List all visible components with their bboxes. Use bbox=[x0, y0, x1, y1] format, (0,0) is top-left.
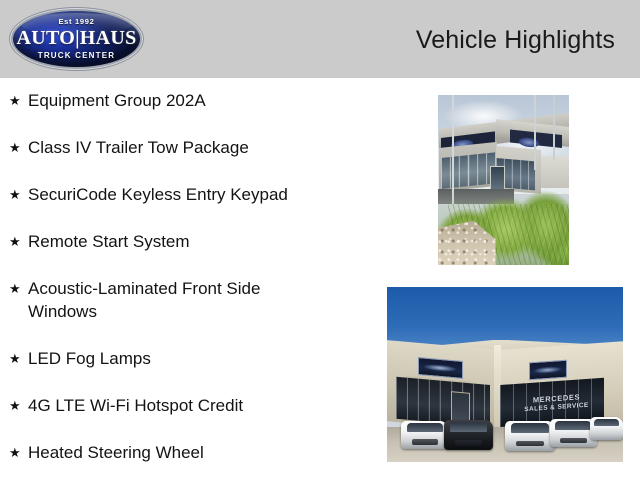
list-item-label: SecuriCode Keyless Entry Keypad bbox=[28, 180, 338, 206]
star-icon: ★ bbox=[9, 234, 21, 250]
star-icon: ★ bbox=[9, 93, 21, 109]
photo-sign-right bbox=[529, 359, 567, 379]
list-item: ★ Class IV Trailer Tow Package bbox=[0, 133, 360, 180]
list-item: ★ SecuriCode Keyless Entry Keypad bbox=[0, 180, 360, 227]
photo-flagpole bbox=[553, 95, 555, 160]
photo-car-grille bbox=[560, 438, 586, 444]
photo-background-building bbox=[538, 156, 569, 188]
photo-car bbox=[590, 417, 623, 440]
star-icon: ★ bbox=[9, 398, 21, 414]
photo-car-windshield bbox=[407, 423, 443, 433]
slide-header: Est 1992 AUTO|HAUS TRUCK CENTER Vehicle … bbox=[0, 0, 640, 78]
list-item-label: Heated Steering Wheel bbox=[28, 438, 338, 464]
photo-sign-left bbox=[418, 357, 463, 379]
page-title: Vehicle Highlights bbox=[416, 25, 615, 55]
vehicle-highlights-list: ★ Equipment Group 202A ★ Class IV Traile… bbox=[0, 86, 360, 485]
logo-est-line: Est 1992 bbox=[58, 17, 94, 26]
photo-car-windshield bbox=[511, 423, 549, 433]
photo-car-grille bbox=[516, 441, 544, 447]
logo-tagline: TRUCK CENTER bbox=[38, 51, 116, 61]
logo-text-group: Est 1992 AUTO|HAUS TRUCK CENTER bbox=[13, 11, 140, 67]
star-icon: ★ bbox=[9, 445, 21, 461]
list-item-label: 4G LTE Wi-Fi Hotspot Credit bbox=[28, 391, 338, 417]
dealership-showroom-photo bbox=[438, 95, 569, 265]
photo-car bbox=[401, 421, 448, 449]
list-item: ★ Acoustic-Laminated Front Side Windows bbox=[0, 274, 360, 344]
logo-brand-name: AUTO|HAUS bbox=[16, 27, 136, 49]
list-item: ★ 4G LTE Wi-Fi Hotspot Credit bbox=[0, 391, 360, 438]
photo-glass-left bbox=[441, 152, 496, 188]
photo-car bbox=[444, 420, 494, 450]
star-icon: ★ bbox=[9, 187, 21, 203]
photo-car-windshield bbox=[555, 421, 591, 431]
star-icon: ★ bbox=[9, 281, 21, 297]
list-item-label: Remote Start System bbox=[28, 227, 338, 253]
dealership-front-photo: MERCEDES SALES & SERVICE bbox=[387, 287, 623, 462]
slide: Est 1992 AUTO|HAUS TRUCK CENTER Vehicle … bbox=[0, 0, 640, 480]
list-item: ★ Equipment Group 202A bbox=[0, 86, 360, 133]
photo-car-windshield bbox=[594, 419, 619, 427]
list-item-label: Class IV Trailer Tow Package bbox=[28, 133, 338, 159]
photo-car bbox=[505, 421, 555, 451]
list-item: ★ LED Fog Lamps bbox=[0, 344, 360, 391]
photo-car-windshield bbox=[450, 422, 488, 432]
list-item: ★ Remote Start System bbox=[0, 227, 360, 274]
photo-car-grille bbox=[412, 439, 438, 445]
list-item-label: Acoustic-Laminated Front Side Windows bbox=[28, 274, 293, 323]
dealer-logo: Est 1992 AUTO|HAUS TRUCK CENTER bbox=[13, 11, 140, 67]
list-item-label: Equipment Group 202A bbox=[28, 86, 338, 112]
list-item-label: LED Fog Lamps bbox=[28, 344, 338, 370]
star-icon: ★ bbox=[9, 140, 21, 156]
star-icon: ★ bbox=[9, 351, 21, 367]
list-item: ★ Heated Steering Wheel bbox=[0, 438, 360, 485]
photo-car-grille bbox=[455, 440, 483, 446]
photo-flagpole bbox=[534, 95, 536, 170]
